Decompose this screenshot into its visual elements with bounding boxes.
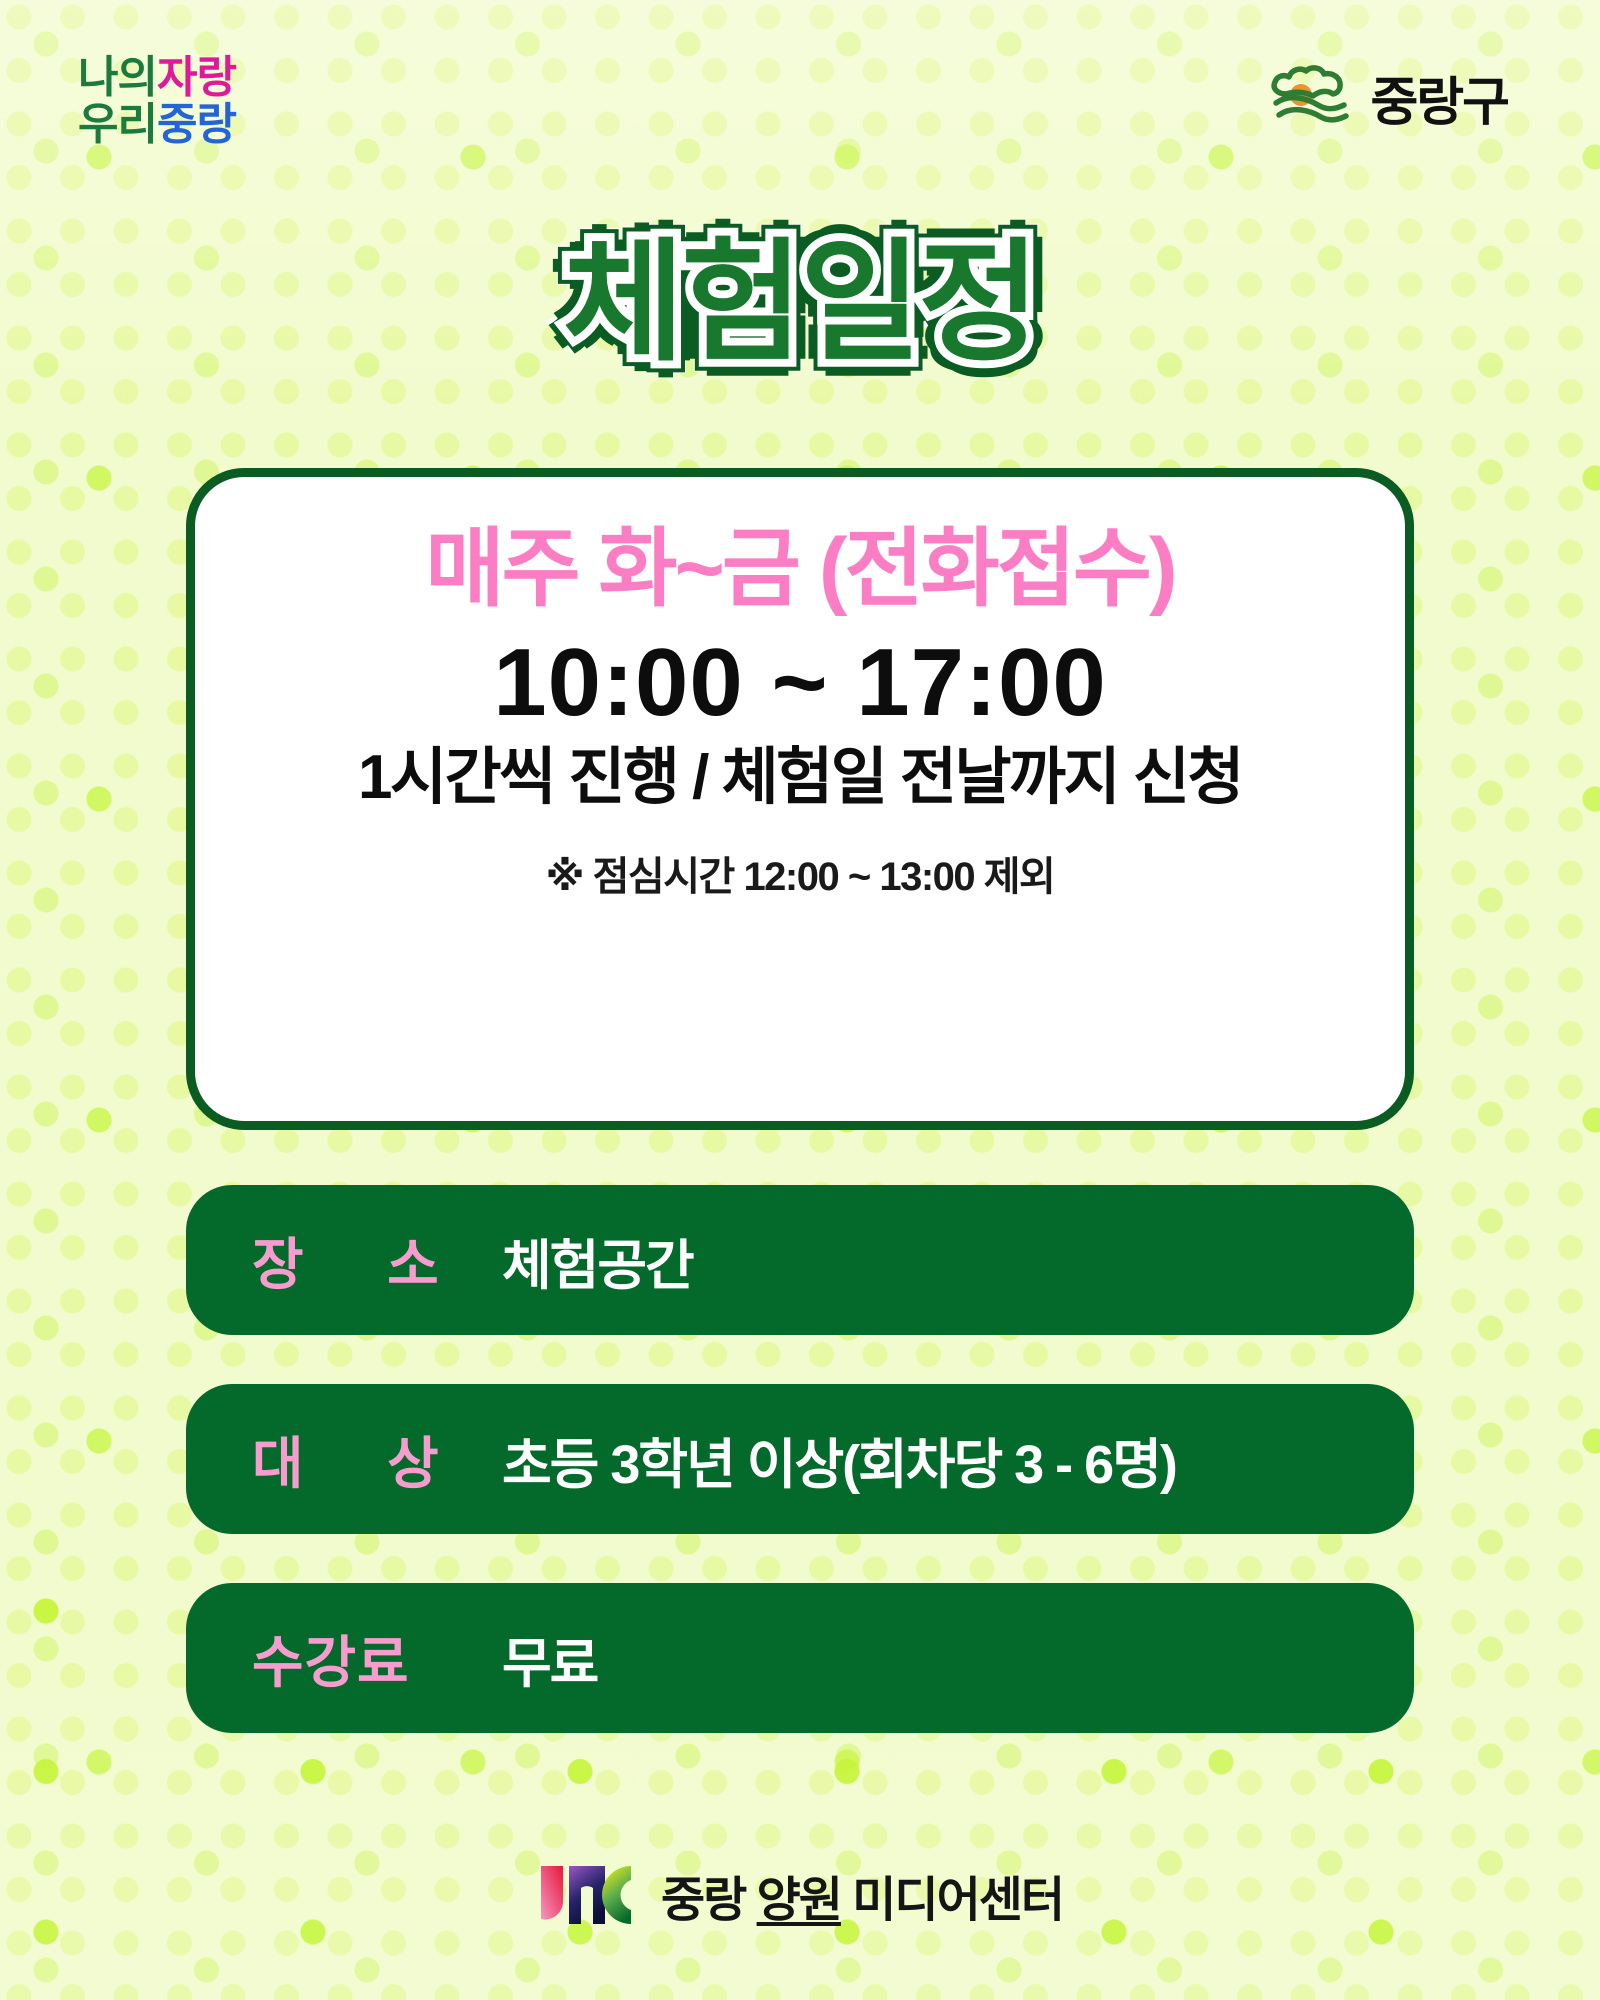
district-logo: 중랑구 [1266, 60, 1508, 135]
slogan-line-2: 우리중랑 [78, 102, 236, 149]
info-row-label: 수강료 [252, 1618, 502, 1699]
info-row-label: 대 상 [252, 1419, 502, 1500]
info-row-audience: 대 상 초등 3학년 이상(회차당 3 - 6명) [186, 1384, 1414, 1534]
footer-org-part-1: 중랑 [661, 1874, 757, 1927]
schedule-card: 매주 화~금 (전화접수) 10:00 ~ 17:00 1시간씩 진행 / 체험… [186, 468, 1414, 1130]
slogan-word-jarang: 자랑 [157, 53, 236, 102]
slogan-word-uri: 우리 [78, 100, 157, 149]
page-title-text: 체험일정 [563, 196, 1037, 387]
city-slogan: 나의자랑 우리중랑 [78, 55, 236, 148]
info-row-value: 무료 [502, 1619, 597, 1698]
page-title: 체험일정 체험일정 체험일정 [0, 196, 1600, 376]
footer-org-part-2: 양원 [757, 1874, 841, 1927]
schedule-days: 매주 화~금 (전화접수) [195, 521, 1405, 617]
district-name: 중랑구 [1370, 60, 1508, 135]
info-rows: 장 소 체험공간 대 상 초등 3학년 이상(회차당 3 - 6명) 수강료 무… [186, 1185, 1414, 1782]
footer-org-name: 중랑 양원 미디어센터 [661, 1860, 1063, 1930]
footer: 중랑 양원 미디어센터 [0, 1860, 1600, 1930]
poster-canvas: 나의자랑 우리중랑 중랑구 체험일정 체험일정 체험일정 매주 화~금 (전화접… [0, 0, 1600, 2000]
slogan-line-1: 나의자랑 [78, 55, 236, 102]
schedule-note: ※ 점심시간 12:00 ~ 13:00 제외 [195, 844, 1405, 902]
slogan-word-naui: 나의 [78, 53, 157, 102]
jmc-media-center-icon [537, 1866, 635, 1924]
schedule-hours: 10:00 ~ 17:00 [195, 633, 1405, 734]
info-row-label: 장 소 [252, 1220, 502, 1301]
footer-org-part-3: 미디어센터 [841, 1874, 1063, 1927]
cloud-hill-sun-icon [1266, 65, 1352, 131]
schedule-detail: 1시간씩 진행 / 체험일 전날까지 신청 [195, 744, 1405, 812]
info-row-location: 장 소 체험공간 [186, 1185, 1414, 1335]
info-row-value: 초등 3학년 이상(회차당 3 - 6명) [502, 1420, 1176, 1499]
info-row-value: 체험공간 [502, 1221, 693, 1300]
info-row-fee: 수강료 무료 [186, 1583, 1414, 1733]
slogan-word-jungnang: 중랑 [157, 100, 236, 149]
